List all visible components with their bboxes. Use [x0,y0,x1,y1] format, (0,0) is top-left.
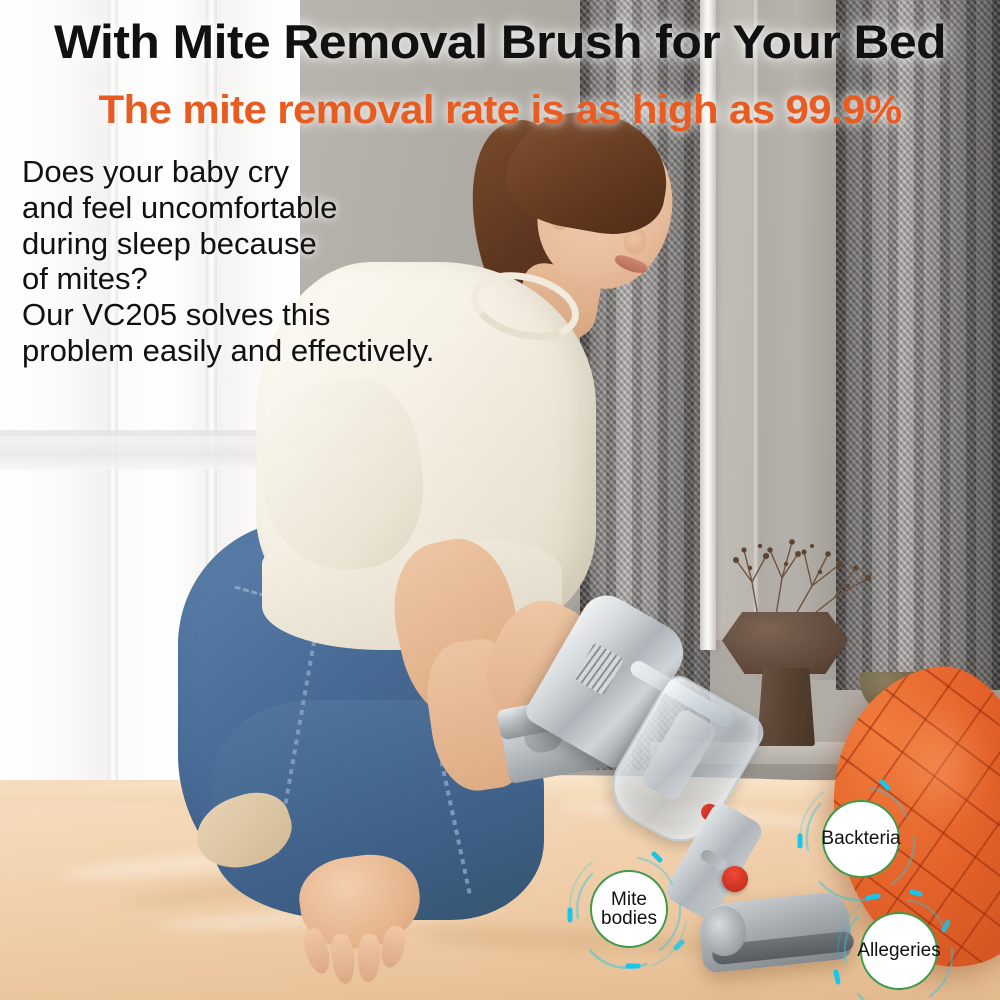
curtain-valance [0,436,300,470]
callout-text: Mite bodies [592,890,666,929]
body-line: problem easily and effectively. [22,333,434,369]
ceramic-vase-top [722,612,848,674]
body-line: Our VC205 solves this [22,297,434,333]
body-line: during sleep because [22,226,434,262]
headline: With Mite Removal Brush for Your Bed [0,14,1000,69]
product-marketing-image: Mite bodies Backteria [0,0,1000,1000]
callout-allegeries: Allegeries [830,886,966,1000]
body-line: Does your baby cry [22,154,434,190]
body-copy: Does your baby cry and feel uncomfortabl… [22,154,434,369]
callout-label-backteria: Backteria [822,800,900,878]
callout-mite-bodies: Mite bodies [562,846,694,974]
subheadline: The mite removal rate is as high as 99.9… [0,88,1000,133]
callout-text: Allegeries [857,941,940,960]
callout-text: Backteria [821,829,900,848]
callout-label-mite: Mite bodies [590,870,668,948]
body-line: and feel uncomfortable [22,190,434,226]
callout-label-allegeries: Allegeries [860,912,938,990]
ceramic-vase-foot [757,668,815,746]
body-line: of mites? [22,261,434,297]
